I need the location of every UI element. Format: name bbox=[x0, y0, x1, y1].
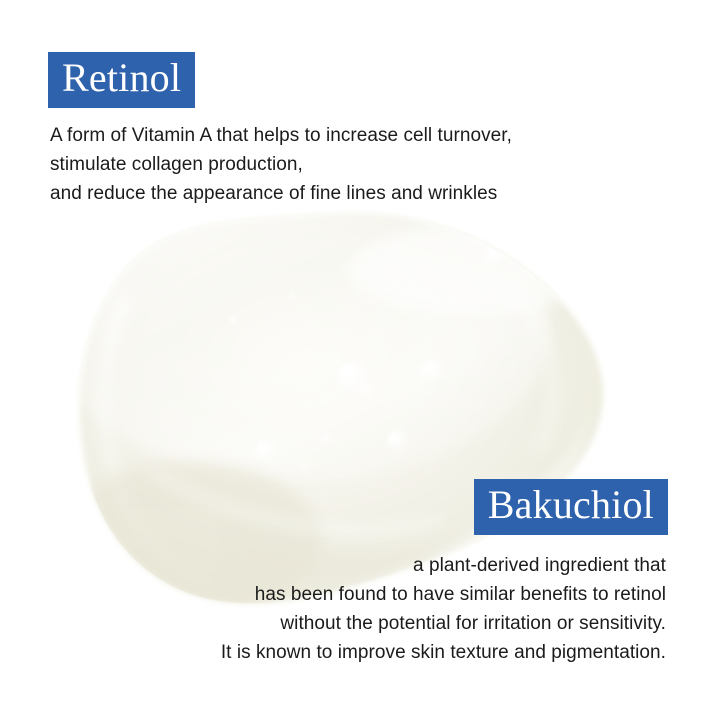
bakuchiol-heading-badge: Bakuchiol bbox=[474, 479, 668, 535]
retinol-description: A form of Vitamin A that helps to increa… bbox=[50, 121, 512, 208]
retinol-heading-badge: Retinol bbox=[48, 52, 195, 108]
gel-wrinkle-2 bbox=[520, 300, 555, 452]
infographic-canvas: Retinol A form of Vitamin A that helps t… bbox=[0, 0, 720, 720]
gel-bubbles bbox=[230, 245, 507, 469]
gel-sheen bbox=[50, 180, 550, 480]
gel-highlight-upper-right bbox=[350, 224, 590, 316]
bakuchiol-description: a plant-derived ingredient that has been… bbox=[221, 551, 666, 667]
section-bakuchiol: Bakuchiol a plant-derived ingredient tha… bbox=[221, 479, 668, 667]
section-retinol: Retinol A form of Vitamin A that helps t… bbox=[48, 52, 512, 208]
